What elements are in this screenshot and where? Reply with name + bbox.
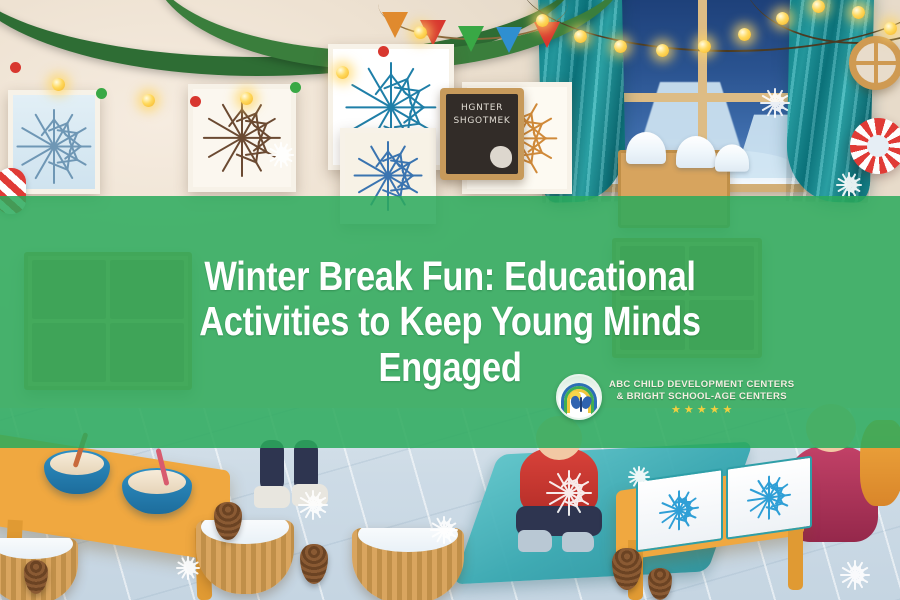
snowflake-icon [836,172,862,198]
brand-logo-lockup[interactable]: ABC CHILD DEVELOPMENT CENTERS & BRIGHT S… [556,374,794,420]
string-light-bulb-icon [614,40,627,53]
grey-blue-snowflake-print-icon [21,105,87,180]
chalkboard-line-1: HGNTER [461,103,503,113]
string-light-bulb-icon [738,28,751,41]
star-icon: ★ [684,405,694,416]
pennant-flag [496,27,522,53]
string-light-bulb-icon [574,30,587,43]
snowflake-icon [268,142,294,168]
string-light-bulb-icon [698,40,711,53]
string-light-bulb-icon [852,6,865,19]
snowflake-illustration [659,487,699,533]
string-light-bulb-icon [536,14,549,27]
snowflake-icon [546,470,592,516]
garland-bauble [10,62,21,73]
garland-bauble [96,88,107,99]
butterfly-icon [571,396,591,414]
garland-bauble [190,96,201,107]
brand-name-line-1: ABC CHILD DEVELOPMENT CENTERS [609,379,794,390]
butterfly-wing-left [569,395,582,410]
child-shoe [254,486,290,508]
table-leg [788,522,803,590]
snowflake-icon [430,516,458,544]
pennant-flag [458,26,484,52]
child-sock [518,530,552,552]
child-sock [562,532,594,552]
string-light-bulb-icon [656,44,669,57]
snowflake-icon [176,556,200,580]
chalkboard-line-2: SHGOTMEK [454,116,511,126]
page-title: Winter Break Fun: Educational Activities… [131,254,769,391]
pennant-flag [382,12,408,38]
chalkboard: HGNTER SHGOTMEK [440,88,524,180]
snowflake-icon [760,88,790,118]
snowflake-icon [298,490,328,520]
garland-light-icon [336,66,349,79]
garland-light-icon [414,26,427,39]
garland-bauble [290,82,301,93]
string-light-bulb-icon [812,0,825,13]
garland-bauble [378,46,389,57]
abc-rainbow-butterfly-emblem-icon [556,374,602,420]
butterfly-wing-right [580,395,593,410]
garland-light-icon [142,94,155,107]
snowflake-icon [628,466,650,488]
brand-text-block: ABC CHILD DEVELOPMENT CENTERS & BRIGHT S… [609,379,794,416]
star-icon: ★ [723,405,733,416]
wooden-wheel-decor [849,36,900,90]
candy-cane-wreath [850,118,900,174]
star-icon: ★ [710,405,720,416]
brand-name-line-2: & BRIGHT SCHOOL-AGE CENTERS [616,391,786,402]
blog-header-banner: HGNTER SHGOTMEK [0,0,900,600]
star-icon: ★ [697,405,707,416]
chalk-snowball-drawing [490,146,512,168]
garland-light-icon [52,78,65,91]
book-page-right [726,456,813,540]
star-rating: ★★★★★ [671,405,732,416]
snowflake-icon [840,560,870,590]
snowflake-illustration [747,473,791,523]
garland-light-icon [240,92,253,105]
title-block: Winter Break Fun: Educational Activities… [0,254,900,391]
string-light-bulb-icon [884,22,897,35]
star-icon: ★ [671,405,681,416]
string-light-bulb-icon [776,12,789,25]
